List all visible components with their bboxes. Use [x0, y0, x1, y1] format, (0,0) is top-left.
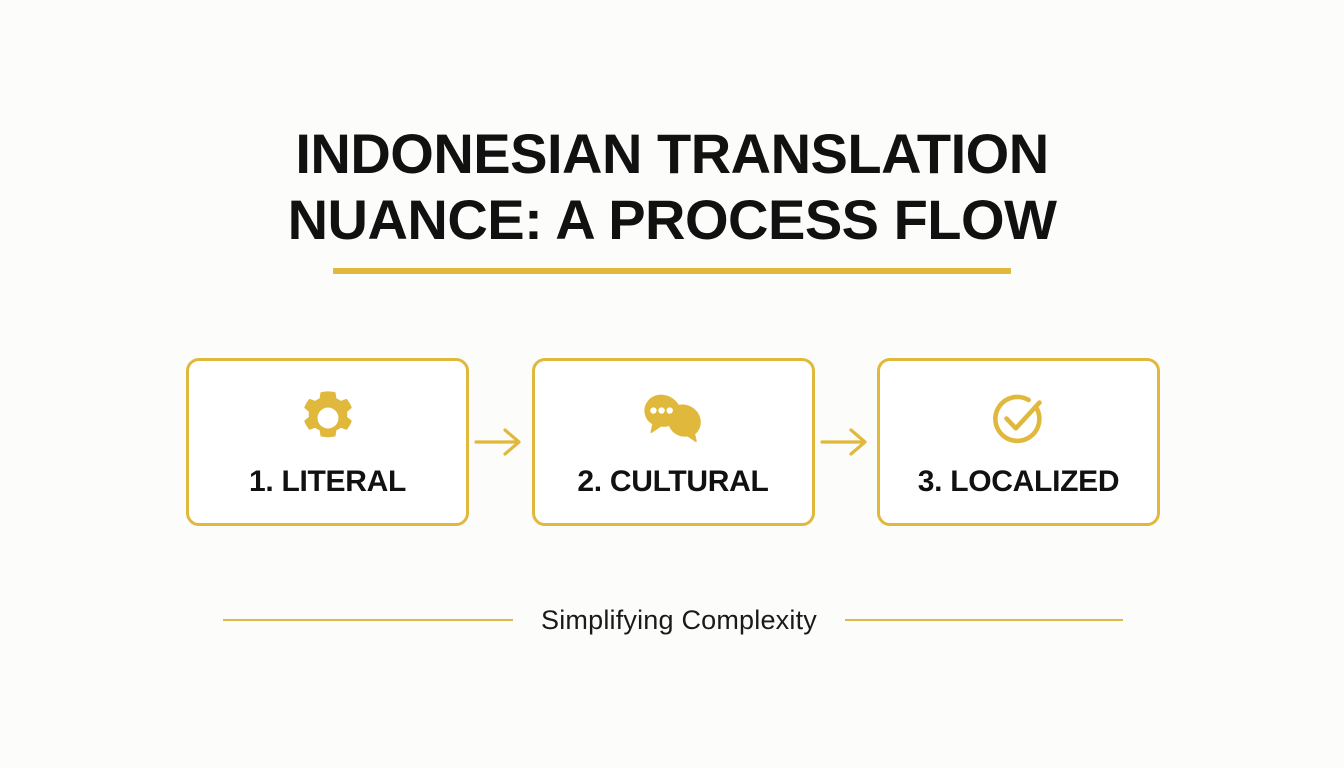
- title-line-2: NUANCE: A PROCESS FLOW: [0, 192, 1344, 248]
- gear-icon: [297, 387, 359, 449]
- connector-2: [817, 422, 875, 462]
- footer-rule-right: [845, 619, 1123, 621]
- arrow-right-icon: [474, 426, 526, 458]
- step-label: 3. LOCALIZED: [918, 465, 1119, 499]
- footer: Simplifying Complexity: [203, 601, 1143, 639]
- step-box-cultural[interactable]: 2. CULTURAL: [532, 358, 815, 526]
- slide-canvas: INDONESIAN TRANSLATION NUANCE: A PROCESS…: [0, 0, 1344, 768]
- step-box-localized[interactable]: 3. LOCALIZED: [877, 358, 1160, 526]
- arrow-right-icon: [820, 426, 872, 458]
- title-line-1: INDONESIAN TRANSLATION: [0, 126, 1344, 182]
- step-label: 2. CULTURAL: [577, 465, 768, 499]
- title-underline: [333, 268, 1011, 274]
- footer-text: Simplifying Complexity: [541, 605, 817, 636]
- process-flow: 1. LITERAL: [186, 357, 1160, 527]
- check-circle-icon: [987, 387, 1051, 449]
- step-label: 1. LITERAL: [249, 465, 406, 499]
- connector-1: [471, 422, 529, 462]
- step-box-literal[interactable]: 1. LITERAL: [186, 358, 469, 526]
- speech-bubbles-icon: [637, 387, 709, 449]
- footer-rule-left: [223, 619, 513, 621]
- page-title: INDONESIAN TRANSLATION NUANCE: A PROCESS…: [0, 126, 1344, 274]
